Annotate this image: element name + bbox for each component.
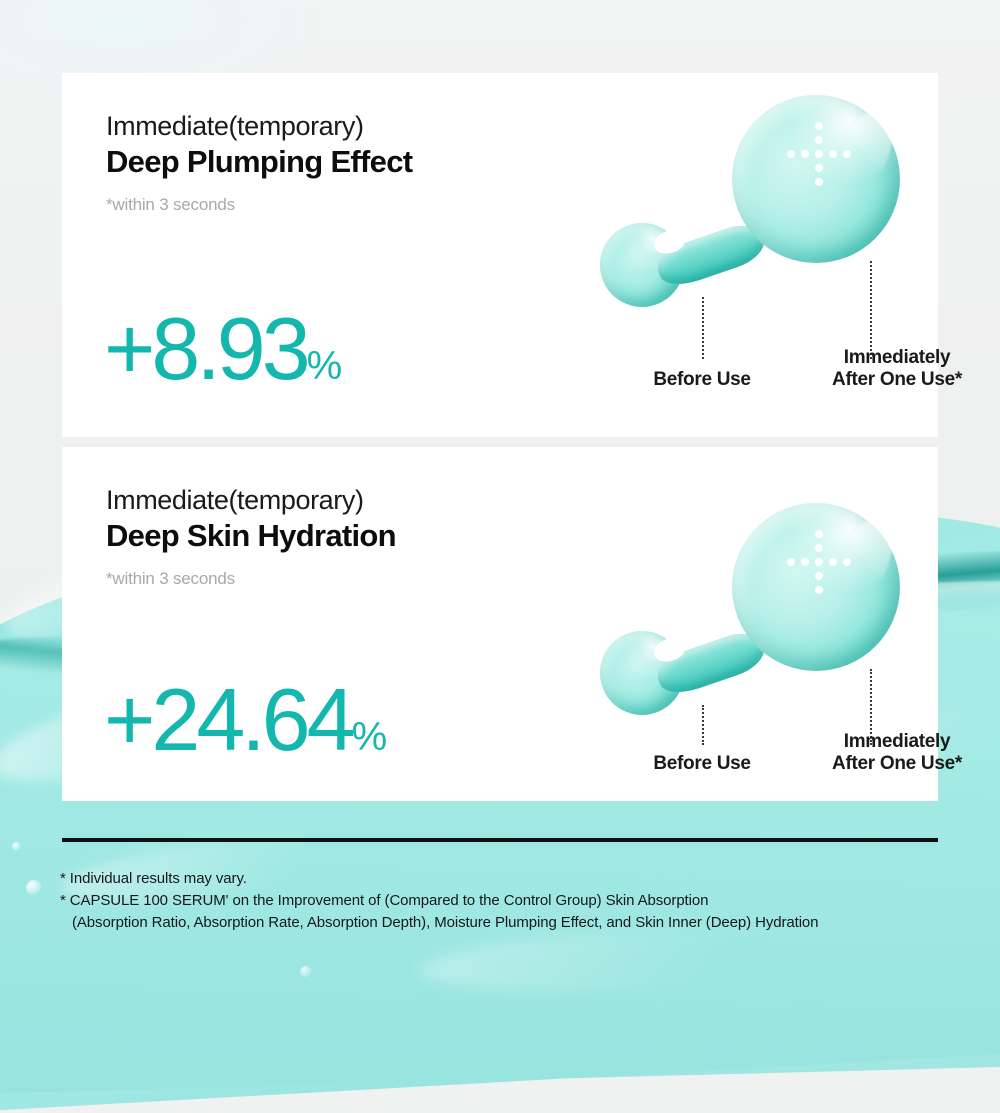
footnote-line-3: (Absorption Ratio, Absorption Rate, Abso… — [60, 912, 960, 934]
stat-percent-sign: % — [352, 715, 387, 759]
caption-after-line1: Immediately — [844, 731, 951, 752]
card-subnote: *within 3 seconds — [106, 569, 396, 589]
footnotes-block: * Individual results may vary. * CAPSULE… — [60, 868, 960, 934]
stat-value-group: +24.64% — [104, 676, 386, 764]
caption-before-use: Before Use — [592, 753, 812, 775]
footnote-line-1: * Individual results may vary. — [60, 868, 960, 890]
caption-after-line1: Immediately — [844, 347, 951, 368]
leader-line-after — [870, 261, 872, 359]
caption-after-line2: After One Use* — [832, 369, 962, 390]
card-eyebrow: Immediate(temporary) — [106, 485, 396, 515]
caption-before-use: Before Use — [592, 369, 812, 391]
gel-droplet-plus-icon: Before Use Immediately After One Use* — [582, 83, 938, 413]
leader-line-before — [702, 297, 704, 359]
footnote-divider — [62, 838, 938, 842]
card-subnote: *within 3 seconds — [106, 195, 412, 215]
card-eyebrow: Immediate(temporary) — [106, 111, 412, 141]
card-text-block: Immediate(temporary) Deep Plumping Effec… — [106, 111, 412, 215]
card-headline: Deep Skin Hydration — [106, 518, 396, 555]
claim-card-plumping: Immediate(temporary) Deep Plumping Effec… — [62, 73, 938, 437]
stat-value-group: +8.93% — [104, 305, 341, 393]
caption-after-use: Immediately After One Use* — [782, 731, 1000, 775]
plus-icon — [796, 539, 842, 585]
caption-after-line2: After One Use* — [832, 753, 962, 774]
gel-droplet-plus-icon: Before Use Immediately After One Use* — [582, 491, 938, 821]
stat-percent-sign: % — [307, 344, 342, 388]
card-text-block: Immediate(temporary) Deep Skin Hydration… — [106, 485, 396, 589]
plus-icon — [796, 131, 842, 177]
stat-number: +24.64 — [104, 670, 352, 769]
card-headline: Deep Plumping Effect — [106, 144, 412, 181]
stat-number: +8.93 — [104, 299, 307, 398]
leader-line-before — [702, 705, 704, 745]
caption-after-use: Immediately After One Use* — [782, 347, 1000, 391]
claim-card-hydration: Immediate(temporary) Deep Skin Hydration… — [62, 447, 938, 801]
footnote-line-2: * CAPSULE 100 SERUM' on the Improvement … — [60, 890, 960, 912]
